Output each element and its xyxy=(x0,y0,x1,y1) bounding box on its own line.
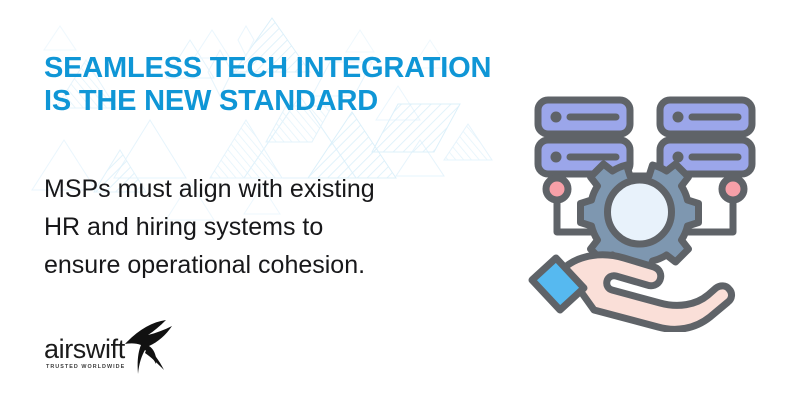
swift-bird-icon xyxy=(120,318,182,380)
hand-icon xyxy=(532,255,732,330)
subtitle-text: MSPs must align with existing HR and hir… xyxy=(44,170,474,284)
text-column: SEAMLESS TECH INTEGRATION IS THE NEW STA… xyxy=(44,52,524,118)
logo-tagline: TRUSTED WORLDWIDE xyxy=(46,364,125,370)
node-dot-left xyxy=(546,178,568,200)
airswift-logo[interactable]: airswift TRUSTED WORLDWIDE xyxy=(42,318,192,380)
logo-wordmark: airswift xyxy=(44,336,125,363)
server-rack-left xyxy=(538,100,630,174)
page-title: SEAMLESS TECH INTEGRATION IS THE NEW STA… xyxy=(44,52,524,118)
promo-card: SEAMLESS TECH INTEGRATION IS THE NEW STA… xyxy=(0,0,800,400)
tech-integration-illustration xyxy=(520,72,780,332)
node-dot-right xyxy=(722,178,744,200)
